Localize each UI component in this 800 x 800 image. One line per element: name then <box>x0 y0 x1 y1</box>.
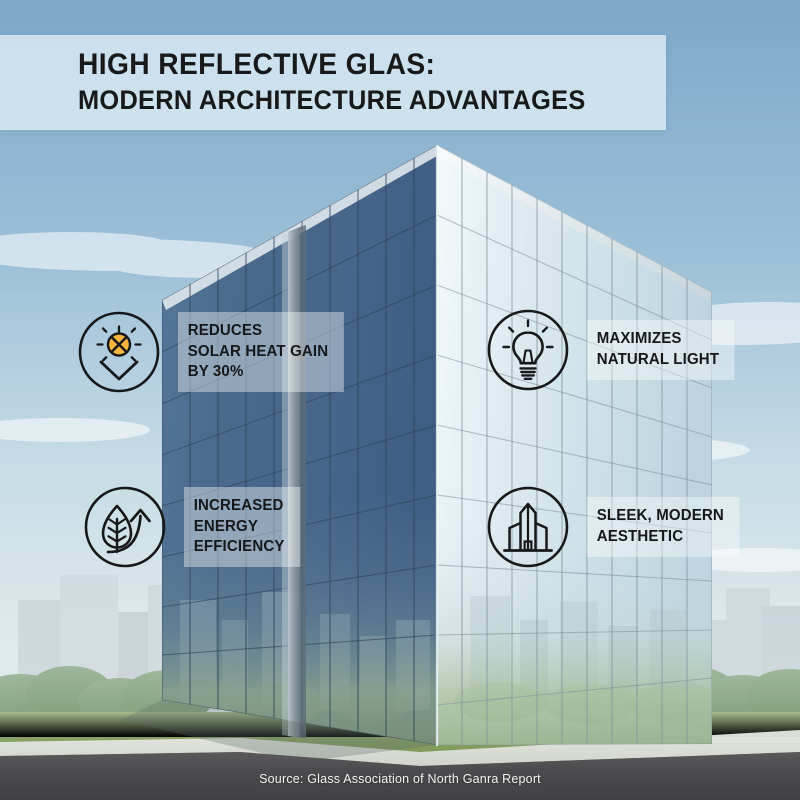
facade-column-highlight <box>282 232 288 736</box>
page-title-line-1: HIGH REFLECTIVE GLAS: <box>78 47 621 84</box>
feature-label-solar-heat-gain: REDUCES SOLAR HEAT GAIN BY 30% <box>178 312 344 392</box>
page-title-line-2: MODERN ARCHITECTURE ADVANTAGES <box>78 84 621 118</box>
feature-label-modern-aesthetic: SLEEK, MODERN AESTHETIC <box>587 497 739 556</box>
facade-column <box>288 227 300 738</box>
feature-label-natural-light: MAXIMIZES NATURAL LIGHT <box>587 320 735 379</box>
skyscraper-icon <box>487 486 569 568</box>
leaf-arrow-up-icon <box>84 486 166 568</box>
feature-item-energy-efficiency: INCREASED ENERGY EFFICIENCY <box>84 486 304 568</box>
feature-item-modern-aesthetic: SLEEK, MODERN AESTHETIC <box>487 486 744 568</box>
title-band: HIGH REFLECTIVE GLAS: MODERN ARCHITECTUR… <box>0 35 666 130</box>
feature-item-solar-heat-gain: REDUCES SOLAR HEAT GAIN BY 30% <box>78 311 349 393</box>
lightbulb-icon <box>487 309 569 391</box>
sun-block-icon <box>78 311 160 393</box>
infographic-canvas: HIGH REFLECTIVE GLAS: MODERN ARCHITECTUR… <box>0 0 800 800</box>
facade-column-shadow <box>300 225 306 738</box>
feature-label-energy-efficiency: INCREASED ENERGY EFFICIENCY <box>184 487 300 567</box>
feature-item-natural-light: MAXIMIZES NATURAL LIGHT <box>487 309 739 391</box>
